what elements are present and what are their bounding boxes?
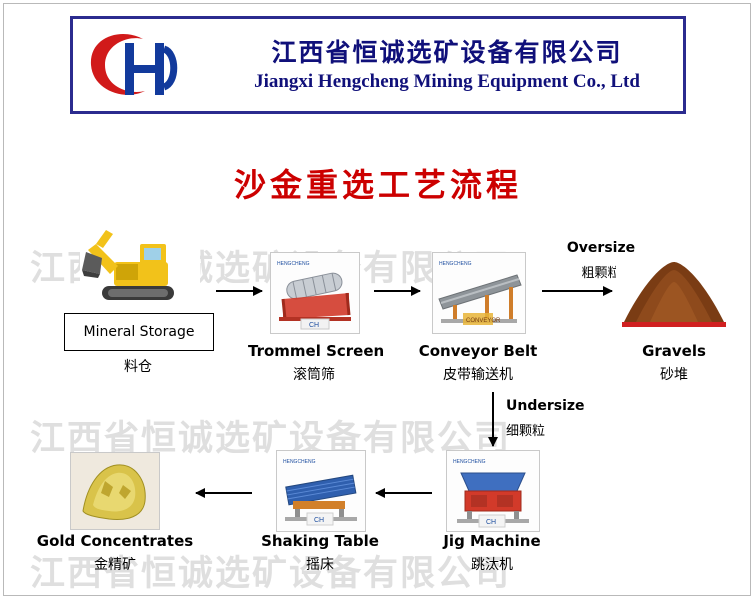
arrow-label-undersize-en: Undersize xyxy=(506,398,616,414)
jig-machine-label-cn: 跳汰机 xyxy=(428,554,556,574)
gravels-label-cn: 砂堆 xyxy=(610,364,738,384)
conveyor-belt-label-cn: 皮带输送机 xyxy=(418,364,538,384)
svg-text:HENGCHENG: HENGCHENG xyxy=(453,459,486,465)
svg-text:HENGCHENG: HENGCHENG xyxy=(439,261,472,267)
company-name-en: Jiangxi Hengcheng Mining Equipment Co., … xyxy=(213,71,681,93)
excavator-photo xyxy=(80,218,200,310)
jig-machine-photo: HENGCHENG CH xyxy=(446,450,540,532)
page-title: 沙金重选工艺流程 xyxy=(0,160,756,206)
svg-text:CH: CH xyxy=(314,517,324,524)
shaking-table-label-cn: 摇床 xyxy=(254,554,386,574)
gravel-pile-photo xyxy=(616,252,732,334)
ch-monogram-logo xyxy=(81,25,201,107)
svg-text:HENGCHENG: HENGCHENG xyxy=(283,459,316,465)
mineral-storage-label-en: Mineral Storage xyxy=(84,324,195,340)
arrow-label-undersize-cn: 细颗粒 xyxy=(506,420,616,439)
svg-text:CH: CH xyxy=(486,519,496,526)
trommel-screen-label-en: Trommel Screen xyxy=(248,342,380,360)
gold-concentrates-label-cn: 金精矿 xyxy=(32,554,198,574)
trommel-screen-photo: HENGCHENG CH xyxy=(270,252,360,334)
mineral-storage-box: Mineral Storage xyxy=(64,313,214,351)
company-name-cn: 江西省恒诚选矿设备有限公司 xyxy=(213,33,681,69)
arrow-jig-to-shaking-table xyxy=(376,492,432,494)
svg-text:HENGCHENG: HENGCHENG xyxy=(277,261,310,267)
svg-text:CH: CH xyxy=(309,322,319,329)
gold-concentrate-photo xyxy=(70,452,160,530)
arrow-conveyor-to-jig xyxy=(492,392,494,446)
gravels-label-en: Gravels xyxy=(610,342,738,360)
trommel-screen-label-cn: 滚筒筛 xyxy=(248,364,380,384)
mineral-storage-label-cn: 料仓 xyxy=(64,356,212,376)
shaking-table-photo: HENGCHENG CH xyxy=(276,450,366,532)
svg-text:CONVEYOR: CONVEYOR xyxy=(466,318,501,324)
arrow-storage-to-trommel xyxy=(216,290,262,292)
shaking-table-label-en: Shaking Table xyxy=(254,532,386,550)
arrow-trommel-to-conveyor xyxy=(374,290,420,292)
conveyor-belt-label-en: Conveyor Belt xyxy=(418,342,538,360)
company-header: 江西省恒诚选矿设备有限公司 Jiangxi Hengcheng Mining E… xyxy=(70,16,686,114)
conveyor-belt-photo: HENGCHENG CONVEYOR xyxy=(432,252,526,334)
arrow-shaking-table-to-gold xyxy=(196,492,252,494)
arrow-conveyor-to-gravels xyxy=(542,290,612,292)
jig-machine-label-en: Jig Machine xyxy=(428,532,556,550)
gold-concentrates-label-en: Gold Concentrates xyxy=(32,532,198,550)
